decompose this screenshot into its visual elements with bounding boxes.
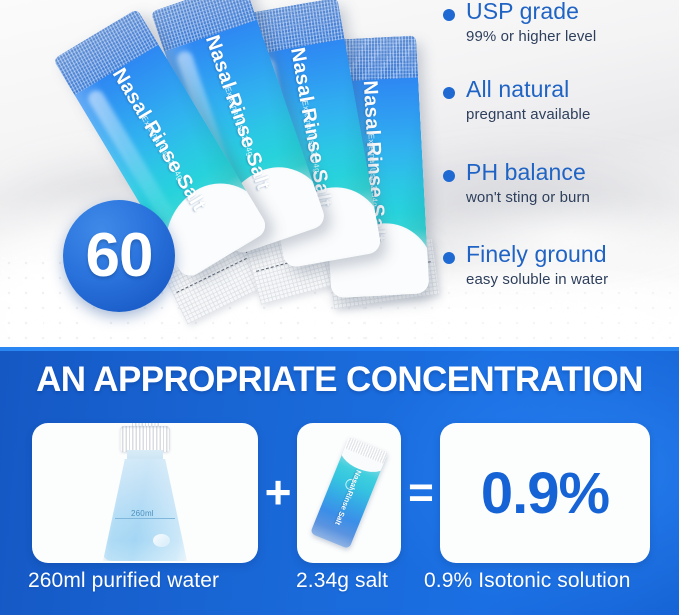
bottle-cap <box>120 426 170 452</box>
banner-top-divider <box>0 347 679 351</box>
product-infographic: ✂ ✂ ✂ Nasal Rinse Salt External Use 2.34… <box>0 0 679 615</box>
feature-title: All natural <box>466 76 569 103</box>
feature-title: PH balance <box>466 159 586 186</box>
feature-subtitle: won't sting or burn <box>466 189 590 206</box>
equation-captions: 260ml purified water 2.34g salt 0.9% Iso… <box>0 569 679 609</box>
water-card: 260ml <box>32 423 258 563</box>
bullet-dot-icon <box>443 87 455 99</box>
caption-salt: 2.34g salt <box>296 569 388 593</box>
result-card: 0.9% <box>440 423 650 563</box>
bullet-dot-icon <box>443 170 455 182</box>
bullet-dot-icon <box>443 252 455 264</box>
result-value: 0.9% <box>481 460 609 527</box>
feature-subtitle: 99% or higher level <box>466 28 596 45</box>
product-hero-section: ✂ ✂ ✂ Nasal Rinse Salt External Use 2.34… <box>0 0 679 347</box>
banner-title: AN APPROPRIATE CONCENTRATION <box>0 360 679 400</box>
bottle-glint <box>153 534 170 547</box>
feature-subtitle: easy soluble in water <box>466 271 608 288</box>
bottle-fill-line <box>115 518 175 519</box>
caption-water: 260ml purified water <box>28 569 219 593</box>
water-bottle-icon: 260ml <box>101 426 189 562</box>
concentration-equation: 260ml + Nasal Rinse Salt = 0.9% <box>0 423 679 563</box>
equals-operator-icon: = <box>401 471 441 515</box>
feature-subtitle: pregnant available <box>466 106 590 123</box>
count-badge-value: 60 <box>86 225 153 287</box>
salt-card: Nasal Rinse Salt <box>297 423 401 563</box>
salt-sachet-icon: Nasal Rinse Salt <box>310 437 388 549</box>
count-badge: 60 <box>63 200 175 312</box>
feature-list: USP grade 99% or higher level All natura… <box>434 0 679 347</box>
bullet-dot-icon <box>443 9 455 21</box>
feature-title: Finely ground <box>466 241 607 268</box>
bottle-measure-label: 260ml <box>131 509 154 518</box>
concentration-banner: AN APPROPRIATE CONCENTRATION 260ml + <box>0 347 679 615</box>
plus-operator-icon: + <box>258 469 298 515</box>
feature-title: USP grade <box>466 0 579 25</box>
caption-result: 0.9% Isotonic solution <box>424 569 631 593</box>
